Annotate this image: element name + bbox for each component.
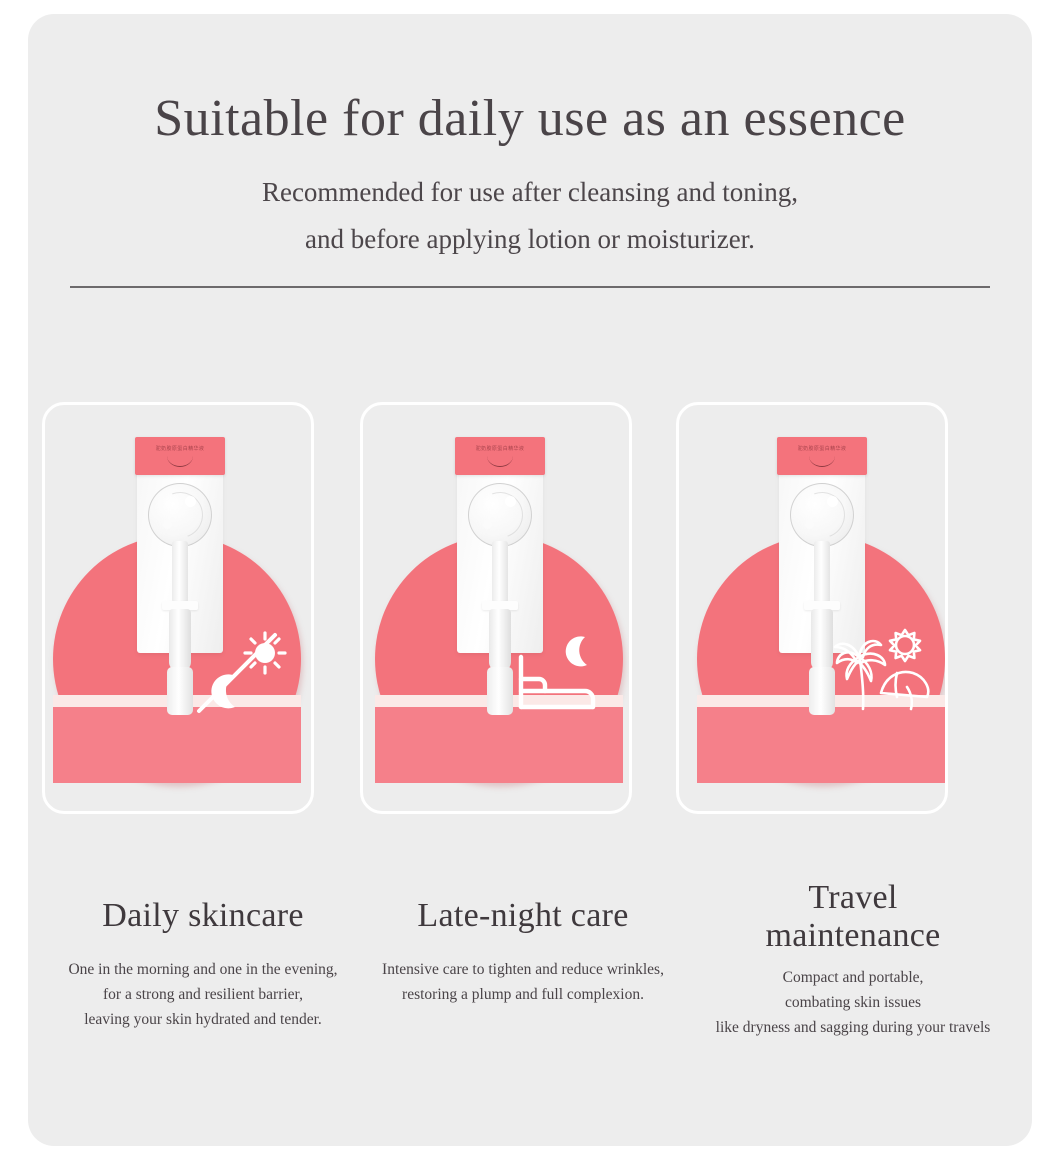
subtitle-line-1: Recommended for use after cleansing and … (28, 169, 1032, 216)
caption-heading: Late-night care (358, 897, 688, 935)
dome-highlight-bottom (805, 520, 814, 529)
caption-body: Compact and portable, combating skin iss… (668, 965, 1038, 1040)
dome-highlight-bottom (483, 520, 492, 529)
product-scene: 驼奶胶原蛋白精华液 (363, 405, 629, 811)
crescent-moon-icon (566, 636, 587, 666)
caption-heading-line-1: Travel (808, 879, 897, 916)
product-label-header: 驼奶胶原蛋白精华液 (777, 437, 867, 475)
dome-swirl-highlight (469, 484, 530, 545)
product-scene: 驼奶胶原蛋白精华液 (679, 405, 945, 811)
product-cards-row: 驼奶胶原蛋白精华液 (28, 394, 1032, 822)
caption-late-night-care: Late-night care Intensive care to tighte… (358, 869, 688, 1007)
sun-outline-icon (890, 630, 920, 661)
product-label-header: 驼奶胶原蛋白精华液 (135, 437, 225, 475)
dropper-barrel (811, 609, 833, 671)
header-divider (70, 286, 990, 288)
clear-dome-capsule (468, 483, 532, 547)
product-card-daily-skincare[interactable]: 驼奶胶原蛋白精华液 (42, 402, 314, 814)
clear-dome-capsule (790, 483, 854, 547)
caption-line: like dryness and sagging during your tra… (716, 1019, 991, 1036)
subtitle-line-2: and before applying lotion or moisturize… (28, 216, 1032, 263)
dome-highlight-top (827, 496, 838, 507)
dome-swirl-highlight (149, 484, 210, 545)
caption-body: Intensive care to tighten and reduce wri… (358, 957, 688, 1007)
beach-umbrella-icon (881, 672, 928, 709)
caption-travel-maintenance: Travel maintenance Compact and portable,… (668, 869, 1038, 1040)
page-title: Suitable for daily use as an essence (28, 92, 1032, 147)
label-microtext: 驼奶胶原蛋白精华液 (777, 445, 867, 452)
caption-line: One in the morning and one in the evenin… (68, 961, 337, 978)
dropper-barrel (489, 609, 511, 671)
day-night-icon-group (193, 627, 289, 719)
dome-highlight-bottom (163, 520, 172, 529)
caption-line: leaving your skin hydrated and tender. (84, 1011, 322, 1028)
smile-curve-icon (487, 456, 513, 467)
dome-highlight-top (505, 496, 516, 507)
product-label-header: 驼奶胶原蛋白精华液 (455, 437, 545, 475)
dome-swirl-highlight (791, 484, 852, 545)
product-card-travel-maintenance[interactable]: 驼奶胶原蛋白精华液 (676, 402, 948, 814)
caption-body: One in the morning and one in the evenin… (38, 957, 368, 1032)
promo-panel: Suitable for daily use as an essence Rec… (28, 14, 1032, 1146)
product-card-late-night-care[interactable]: 驼奶胶原蛋白精华液 (360, 402, 632, 814)
smile-curve-icon (167, 456, 193, 467)
dropper-neck (492, 541, 508, 603)
caption-line: Intensive care to tighten and reduce wri… (382, 961, 664, 978)
label-microtext: 驼奶胶原蛋白精华液 (455, 445, 545, 452)
clear-dome-capsule (148, 483, 212, 547)
caption-heading-line-2: maintenance (765, 917, 940, 954)
dropper-neck (814, 541, 830, 603)
caption-heading: Daily skincare (38, 897, 368, 935)
product-scene: 驼奶胶原蛋白精华液 (45, 405, 311, 811)
caption-line: combating skin issues (785, 994, 921, 1011)
bedtime-icon-group (515, 627, 607, 719)
dropper-tip (167, 667, 193, 715)
palm-tree-icon (835, 641, 885, 709)
sun-icon (245, 633, 285, 673)
header-block: Suitable for daily use as an essence Rec… (28, 14, 1032, 263)
smile-curve-icon (809, 456, 835, 467)
caption-line: restoring a plump and full complexion. (402, 986, 644, 1003)
dome-highlight-top (185, 496, 196, 507)
caption-line: Compact and portable, (783, 969, 924, 986)
label-microtext: 驼奶胶原蛋白精华液 (135, 445, 225, 452)
dropper-tip (487, 667, 513, 715)
dropper-barrel (169, 609, 191, 671)
dropper-neck (172, 541, 188, 603)
caption-heading: Travel maintenance (668, 879, 1038, 955)
caption-line: for a strong and resilient barrier, (103, 986, 303, 1003)
page-subtitle: Recommended for use after cleansing and … (28, 169, 1032, 264)
caption-daily-skincare: Daily skincare One in the morning and on… (38, 869, 368, 1032)
travel-icon-group (831, 623, 935, 719)
